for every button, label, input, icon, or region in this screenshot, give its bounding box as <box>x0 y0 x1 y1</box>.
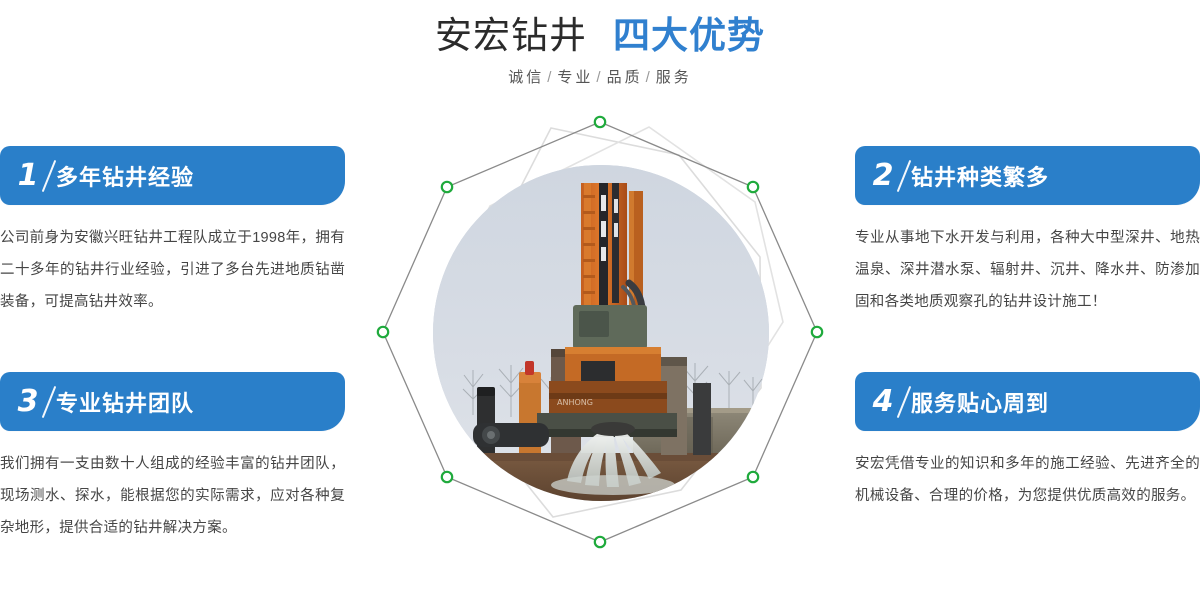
polygon-node-top-left <box>442 182 452 192</box>
polygon-node-right <box>812 327 822 337</box>
advantage-card-4: 4 服务贴心周到 安宏凭借专业的知识和多年的施工经验、先进齐全的机械设备、合理的… <box>855 372 1200 512</box>
page-header: 安宏钻井四大优势 诚信/专业/品质/服务 <box>0 0 1200 110</box>
advantage-badge-4[interactable]: 4 服务贴心周到 <box>855 372 1200 431</box>
subtitle-item-2: 专业 <box>557 69 593 86</box>
page-title-company: 安宏钻井 <box>435 15 587 56</box>
page-subtitle: 诚信/专业/品质/服务 <box>0 66 1200 90</box>
polygon-node-left <box>378 327 388 337</box>
page-title-highlight: 四大优势 <box>613 15 765 56</box>
center-graphic: ANHONG <box>370 110 830 600</box>
advantage-text-4: 安宏凭借专业的知识和多年的施工经验、先进齐全的机械设备、合理的价格，为您提供优质… <box>855 448 1200 512</box>
advantage-badge-1[interactable]: 1 多年钻井经验 <box>0 146 345 205</box>
advantage-text-2: 专业从事地下水开发与利用，各种大中型深井、地热温泉、深井潜水泵、辐射井、沉井、降… <box>855 222 1200 318</box>
subtitle-separator: / <box>593 69 606 86</box>
polygon-node-bottom-right <box>748 472 758 482</box>
polygon-node-top <box>595 117 605 127</box>
subtitle-separator: / <box>643 69 656 86</box>
advantage-text-1: 公司前身为安徽兴旺钻井工程队成立于1998年，拥有二十多年的钻井行业经验，引进了… <box>0 222 345 318</box>
subtitle-item-1: 诚信 <box>508 69 544 86</box>
advantage-title-2: 钻井种类繁多 <box>911 160 1049 192</box>
advantage-card-1: 1 多年钻井经验 公司前身为安徽兴旺钻井工程队成立于1998年，拥有二十多年的钻… <box>0 146 345 318</box>
decorative-polygon-nodes <box>370 110 830 600</box>
advantage-number-1: 1 <box>0 146 56 205</box>
polygon-node-bottom <box>595 537 605 547</box>
advantage-number-3: 3 <box>0 372 56 431</box>
page-title: 安宏钻井四大优势 <box>0 12 1200 60</box>
advantage-title-1: 多年钻井经验 <box>56 160 194 192</box>
advantage-title-4: 服务贴心周到 <box>911 386 1049 418</box>
advantage-badge-3[interactable]: 3 专业钻井团队 <box>0 372 345 431</box>
advantage-card-2: 2 钻井种类繁多 专业从事地下水开发与利用，各种大中型深井、地热温泉、深井潜水泵… <box>855 146 1200 318</box>
advantage-number-4: 4 <box>855 372 911 431</box>
advantage-text-3: 我们拥有一支由数十人组成的经验丰富的钻井团队，现场测水、探水，能根据您的实际需求… <box>0 448 345 544</box>
subtitle-item-4: 服务 <box>656 69 692 86</box>
advantage-number-2: 2 <box>855 146 911 205</box>
advantage-title-3: 专业钻井团队 <box>56 386 194 418</box>
advantages-banner: 安宏钻井四大优势 诚信/专业/品质/服务 <box>0 0 1200 600</box>
advantage-badge-2[interactable]: 2 钻井种类繁多 <box>855 146 1200 205</box>
subtitle-separator: / <box>544 69 557 86</box>
polygon-vertex-nodes <box>378 117 822 547</box>
polygon-node-top-right <box>748 182 758 192</box>
polygon-node-bottom-left <box>442 472 452 482</box>
advantage-card-3: 3 专业钻井团队 我们拥有一支由数十人组成的经验丰富的钻井团队，现场测水、探水，… <box>0 372 345 544</box>
subtitle-item-3: 品质 <box>607 69 643 86</box>
